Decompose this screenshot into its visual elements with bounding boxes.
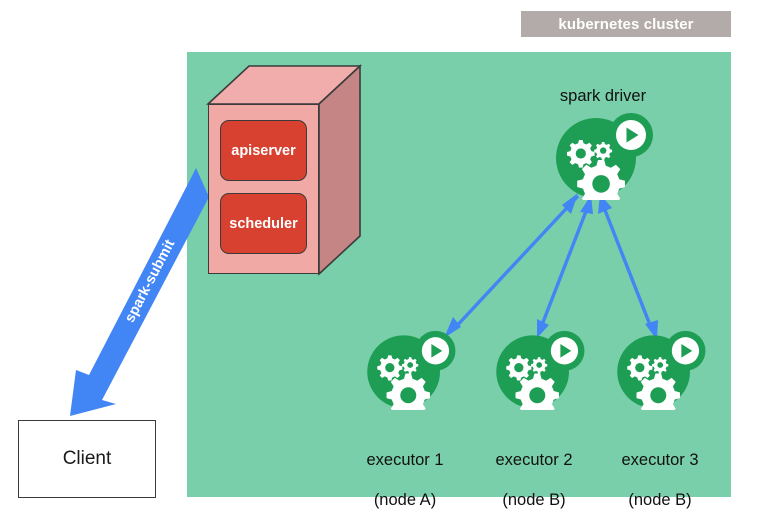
gear-icon-medium <box>567 140 595 168</box>
client-label: Client <box>63 448 112 470</box>
client-box[interactable]: Client <box>18 420 156 498</box>
gear-icon-small <box>402 357 418 373</box>
play-button-icon <box>422 337 449 364</box>
play-button-icon <box>672 337 699 364</box>
connector-driver-executor-2 <box>537 195 593 338</box>
executor-2-label-line1: executor 2 <box>474 450 594 470</box>
apiserver-label: apiserver <box>231 143 296 159</box>
scheduler-box[interactable]: scheduler <box>220 193 307 254</box>
executor-1-label-line1: executor 1 <box>345 450 465 470</box>
cube-front-face: apiserver scheduler <box>208 104 319 274</box>
scheduler-label: scheduler <box>229 216 298 232</box>
spark-driver-label-line1: spark driver <box>528 86 678 106</box>
executor-2-label-line2: (node B) <box>474 490 594 510</box>
play-button-icon <box>616 120 646 150</box>
executor-1-icon[interactable] <box>360 328 460 410</box>
connector-driver-executor-1 <box>444 193 578 338</box>
executor-2-label: executor 2 (node B) <box>474 430 594 530</box>
connector-driver-executor-3 <box>598 194 658 340</box>
executor-3-icon[interactable] <box>610 328 710 410</box>
diagram-canvas: kubernetes cluster spark-submit <box>0 0 761 516</box>
executor-3-label: executor 3 (node B) <box>600 430 720 530</box>
gear-icon-medium <box>506 355 531 380</box>
executor-1-label-line2: (node A) <box>345 490 465 510</box>
gear-icon-small <box>594 142 612 160</box>
spark-driver-icon[interactable] <box>548 110 658 200</box>
executor-3-label-line1: executor 3 <box>600 450 720 470</box>
play-button-icon <box>551 337 578 364</box>
gear-icon-medium <box>627 355 652 380</box>
apiserver-box[interactable]: apiserver <box>220 120 307 181</box>
control-plane-cube: apiserver scheduler <box>208 66 360 276</box>
executor-2-icon[interactable] <box>489 328 589 410</box>
gear-icon-small <box>531 357 547 373</box>
executor-1-label: executor 1 (node A) <box>345 430 465 530</box>
executor-3-label-line2: (node B) <box>600 490 720 510</box>
gear-icon-small <box>652 357 668 373</box>
gear-icon-medium <box>377 355 402 380</box>
